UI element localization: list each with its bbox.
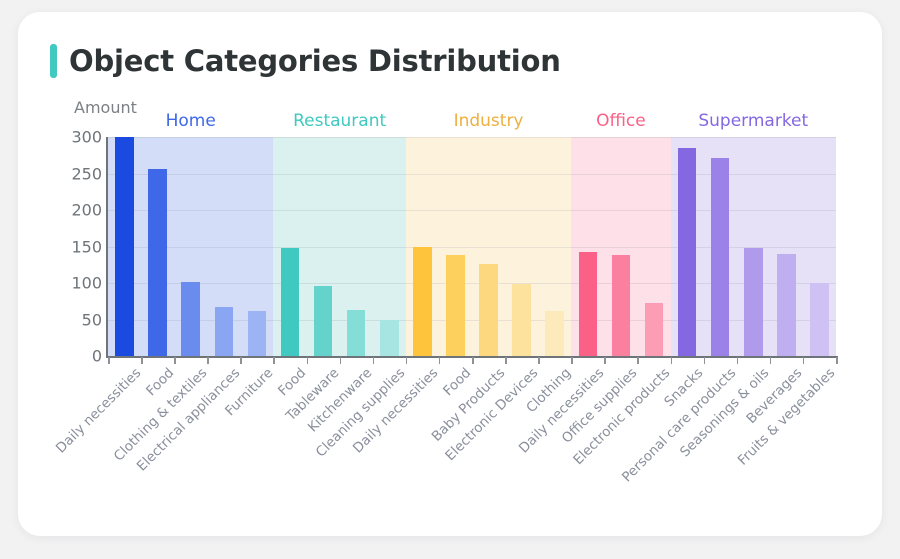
x-tick-mark: [472, 357, 474, 364]
bar[interactable]: [413, 247, 432, 357]
x-tick-mark: [571, 357, 573, 364]
bar[interactable]: [181, 282, 200, 356]
chart-card: Object Categories Distribution Amount Ho…: [18, 12, 882, 536]
x-tick-mark: [240, 357, 242, 364]
bar[interactable]: [810, 283, 829, 356]
group-label-restaurant: Restaurant: [293, 111, 386, 131]
x-tick-mark: [439, 357, 441, 364]
y-axis-ticks: 050100150200250300: [58, 137, 102, 356]
bar[interactable]: [579, 252, 598, 356]
bar-series: [108, 137, 836, 356]
plot-area: HomeRestaurantIndustryOfficeSupermarket …: [18, 12, 882, 536]
group-label-office: Office: [596, 111, 646, 131]
bars-region: [108, 137, 836, 356]
y-tick-label: 250: [71, 164, 102, 183]
x-tick-mark: [538, 357, 540, 364]
bar[interactable]: [347, 310, 366, 356]
y-axis-line: [106, 137, 108, 357]
bar[interactable]: [248, 311, 267, 356]
bar[interactable]: [148, 169, 167, 356]
y-tick-label: 200: [71, 201, 102, 220]
x-tick-mark: [505, 357, 507, 364]
bar[interactable]: [512, 284, 531, 356]
bar[interactable]: [744, 248, 763, 356]
x-tick-mark: [836, 357, 838, 364]
x-tick-mark: [604, 357, 606, 364]
bar[interactable]: [380, 320, 399, 356]
x-tick-mark: [273, 357, 275, 364]
y-tick-label: 50: [82, 310, 102, 329]
bar[interactable]: [711, 158, 730, 356]
x-tick-mark: [174, 357, 176, 364]
x-tick-mark: [108, 357, 110, 364]
bar[interactable]: [479, 264, 498, 356]
x-axis-tickmarks: [108, 357, 836, 364]
x-tick-mark: [373, 357, 375, 364]
group-label-supermarket: Supermarket: [698, 111, 808, 131]
x-tick-mark: [207, 357, 209, 364]
bar[interactable]: [215, 307, 234, 356]
group-label-industry: Industry: [454, 111, 524, 131]
x-tick-mark: [406, 357, 408, 364]
bar[interactable]: [777, 254, 796, 356]
x-tick-mark: [340, 357, 342, 364]
x-tick-mark: [141, 357, 143, 364]
x-tick-mark: [671, 357, 673, 364]
group-label-home: Home: [166, 111, 216, 131]
bar[interactable]: [678, 148, 697, 356]
group-legend: HomeRestaurantIndustryOfficeSupermarket: [108, 111, 836, 135]
x-tick-mark: [637, 357, 639, 364]
bar[interactable]: [645, 303, 664, 356]
bar[interactable]: [115, 137, 134, 356]
x-tick-mark: [704, 357, 706, 364]
y-tick-label: 0: [92, 347, 102, 366]
y-tick-label: 300: [71, 128, 102, 147]
x-tick-mark: [737, 357, 739, 364]
x-tick-mark: [307, 357, 309, 364]
bar[interactable]: [545, 311, 564, 356]
bar[interactable]: [612, 255, 631, 356]
bar[interactable]: [446, 255, 465, 356]
y-tick-label: 150: [71, 237, 102, 256]
x-axis-labels: Daily necessitiesFoodClothing & textiles…: [108, 365, 836, 525]
y-tick-label: 100: [71, 274, 102, 293]
bar[interactable]: [281, 248, 300, 356]
bar[interactable]: [314, 286, 333, 356]
x-tick-mark: [770, 357, 772, 364]
x-tick-mark: [803, 357, 805, 364]
